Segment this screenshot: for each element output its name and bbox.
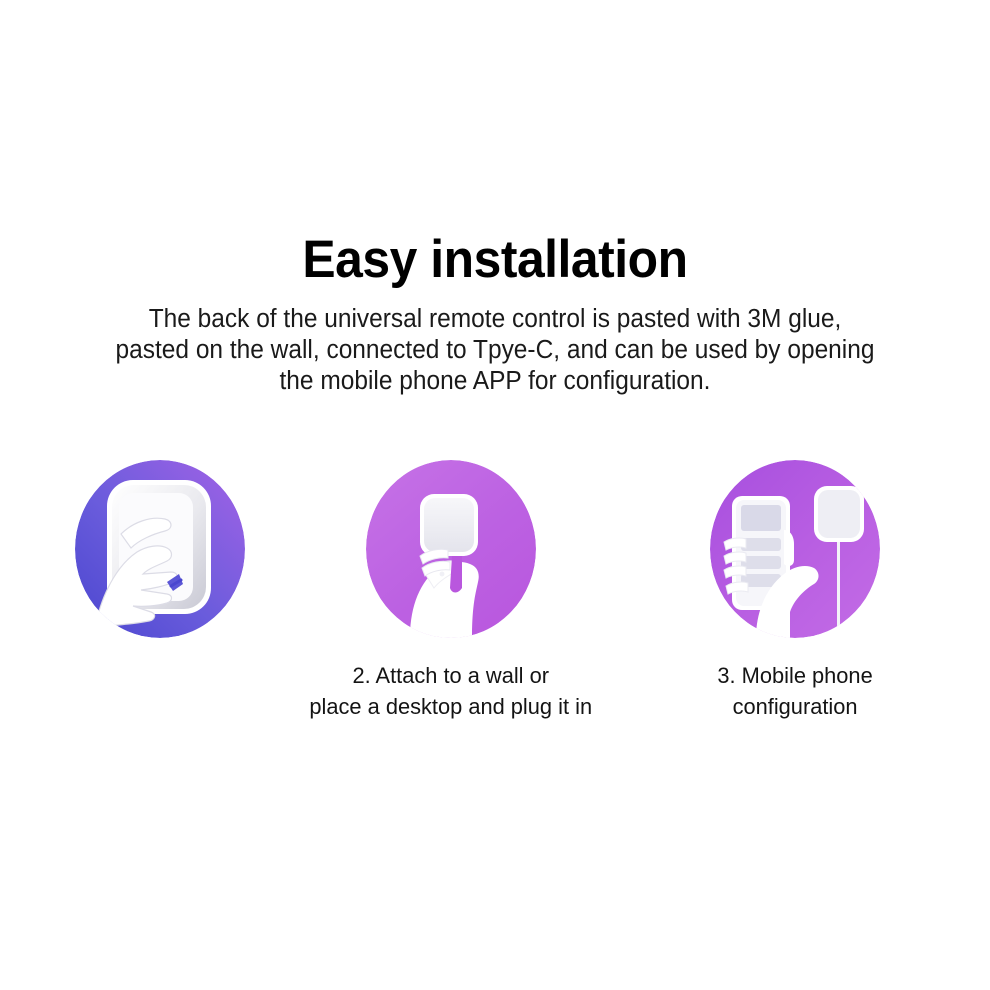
step-2-badge bbox=[366, 460, 536, 638]
page-title: Easy installation bbox=[30, 232, 961, 288]
step-2-caption-line1: 2. Attach to a wall or bbox=[310, 660, 593, 691]
step-2-caption: 2. Attach to a wall or place a desktop a… bbox=[310, 660, 593, 722]
steps-row: 2. Attach to a wall or place a desktop a… bbox=[0, 460, 990, 722]
infographic-page: Easy installation The back of the univer… bbox=[0, 0, 990, 990]
step-1-badge bbox=[75, 460, 245, 638]
step-item-2: 2. Attach to a wall or place a desktop a… bbox=[281, 460, 621, 722]
step-3-caption-line2: configuration bbox=[717, 691, 872, 722]
step-item-3: 3. Mobile phone configuration bbox=[665, 460, 925, 722]
step-3-caption: 3. Mobile phone configuration bbox=[717, 660, 872, 722]
step-3-badge bbox=[710, 460, 880, 638]
step-3-caption-line1: 3. Mobile phone bbox=[717, 660, 872, 691]
step-2-caption-line2: place a desktop and plug it in bbox=[310, 691, 593, 722]
page-description: The back of the universal remote control… bbox=[111, 304, 879, 397]
step-item-1 bbox=[65, 460, 255, 638]
